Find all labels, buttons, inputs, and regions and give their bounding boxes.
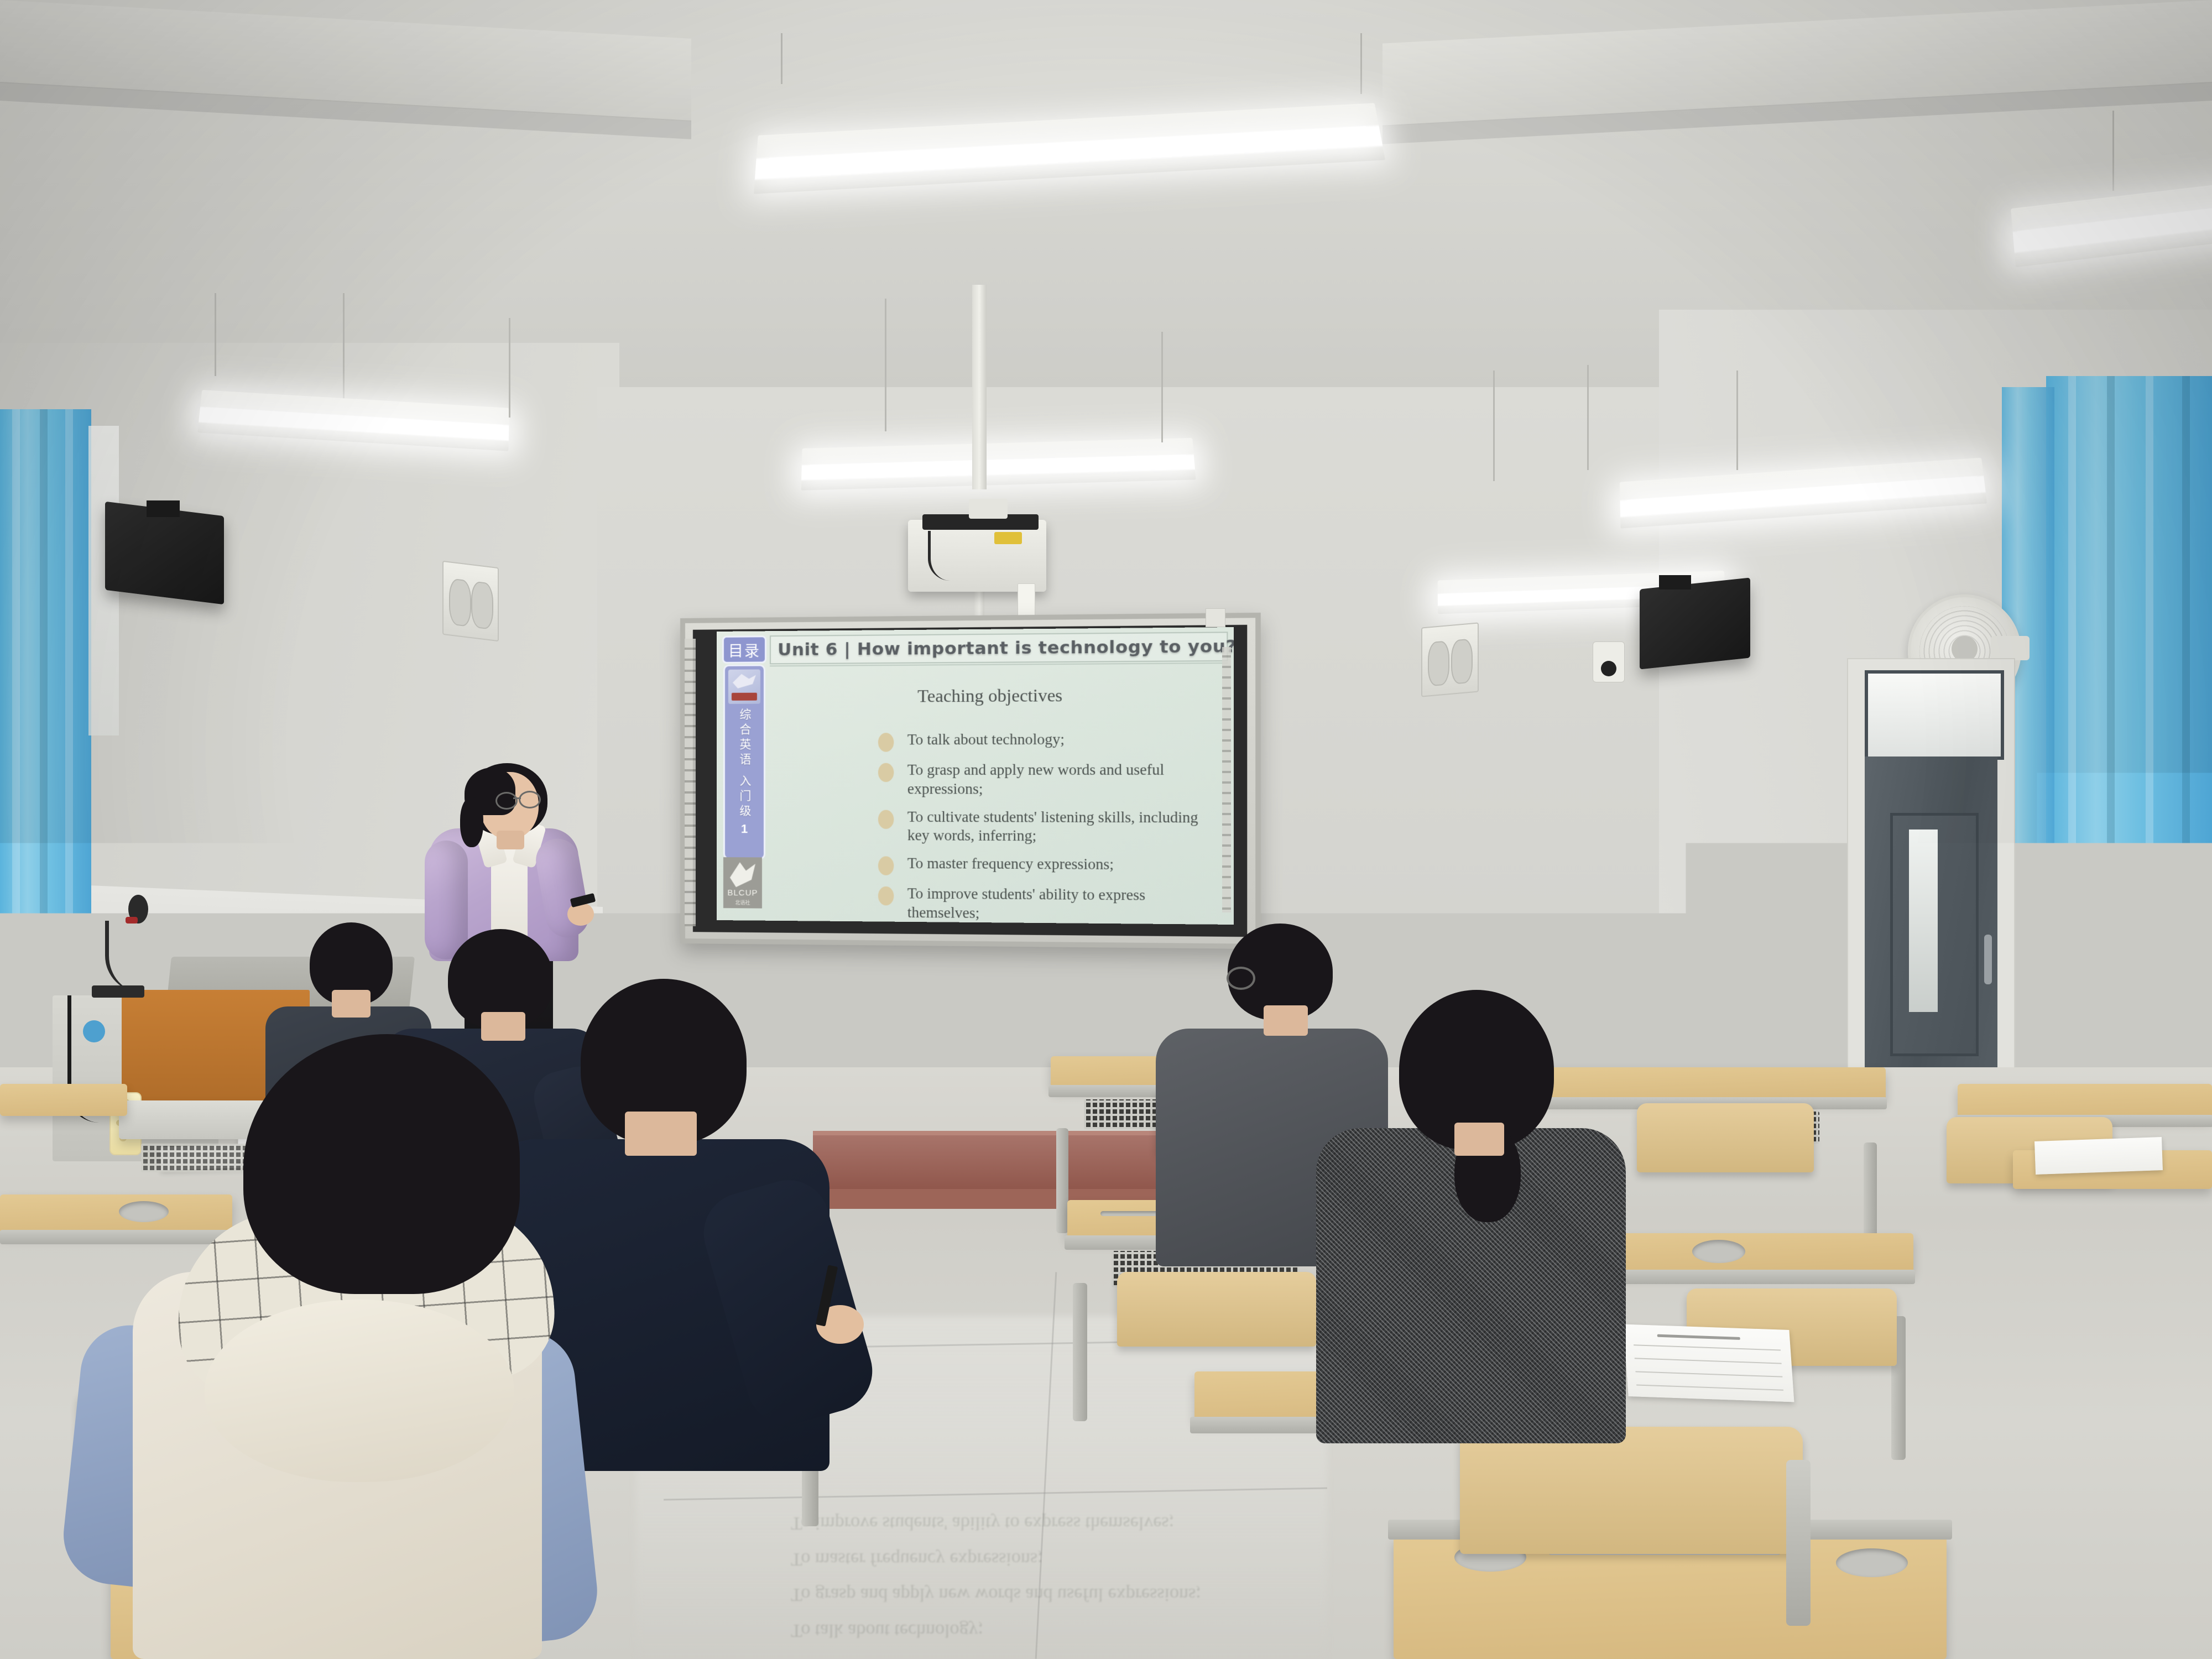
slide-sidebar-level-number: 1 — [741, 822, 748, 836]
slide-title: Unit 6 | How important is technology to … — [778, 636, 1234, 660]
bullet-dot-icon — [878, 763, 894, 782]
door-transom-window — [1865, 670, 2004, 760]
ceiling-hook-wire — [1587, 365, 1589, 470]
publisher-logo-block: BLCUP 北语社 — [723, 857, 762, 909]
whiteboard-marker-tray-left — [685, 639, 696, 926]
teacher-neck — [497, 831, 524, 849]
light-suspension-wire — [343, 293, 345, 415]
student-neck — [332, 990, 371, 1018]
teacher-glasses-bridge — [513, 797, 521, 799]
whiteboard-marker-tray-right — [1222, 647, 1231, 912]
publisher-sub: 北语社 — [735, 899, 750, 906]
projector-label — [994, 532, 1022, 544]
speaker-bracket-left — [147, 500, 180, 517]
teacher-glasses-right — [519, 791, 541, 808]
curtain-left — [0, 409, 91, 995]
projector-tag — [1018, 583, 1035, 619]
door-handle[interactable] — [1984, 935, 1992, 984]
list-item: To improve students' ability to express … — [878, 884, 1222, 925]
student-neck — [625, 1112, 697, 1156]
slide-subtitle: Teaching objectives — [917, 685, 1062, 707]
slide-sidebar-vertical-text: 综合英语 入门级 — [736, 708, 753, 820]
bullet-dot-icon — [878, 810, 894, 828]
bullet-text: To cultivate students' listening skills,… — [907, 807, 1206, 846]
bullet-text: To master frequency expressions; — [907, 854, 1114, 874]
air-conditioner-right — [1421, 622, 1479, 697]
desk-cup-holder — [1836, 1548, 1908, 1577]
student-neck — [1454, 1123, 1504, 1156]
slide-toc-button[interactable]: 目录 — [722, 635, 766, 664]
student-glasses — [1227, 967, 1255, 990]
teacher-glasses-left — [495, 792, 518, 810]
air-conditioner-left — [442, 561, 499, 642]
bullet-dot-icon — [878, 886, 894, 906]
ceiling-hook-wire — [215, 293, 216, 376]
bullet-text: To grasp and apply new words and useful … — [907, 760, 1222, 799]
slide-sidebar: 综合英语 入门级 1 — [723, 664, 765, 859]
desk-leg — [1073, 1283, 1087, 1421]
light-suspension-wire — [2112, 111, 2114, 191]
teacher-ponytail — [460, 797, 483, 847]
projector-bracket — [969, 499, 1008, 519]
slide-title-box: Unit 6 | How important is technology to … — [770, 632, 1228, 664]
student-front-right — [1753, 1040, 2118, 1537]
student-front-left — [72, 1034, 581, 1659]
reflected-bullet: To master frequency expressions; — [791, 1541, 1288, 1577]
light-suspension-wire — [781, 33, 782, 84]
fan-mount — [1991, 636, 2030, 660]
projector-mount-pole — [972, 285, 987, 489]
desk-cup-holder — [1692, 1240, 1745, 1263]
microphone-ring — [126, 917, 138, 924]
slide-toc-label: 目录 — [728, 639, 760, 660]
presentation-slide[interactable]: 目录 综合英语 入门级 1 BLCUP 北语社 Unit 6 | How imp… — [717, 627, 1234, 925]
chair-mid-left[interactable] — [1117, 1272, 1316, 1347]
bullet-text: To talk about technology; — [907, 730, 1065, 749]
ceiling-hook-wire — [1736, 371, 1738, 470]
floor-slide-reflection: To talk about technology; To grasp and a… — [791, 1416, 1288, 1648]
reflected-bullet: To talk about technology; — [791, 1612, 1288, 1648]
bullet-dot-icon — [878, 733, 894, 752]
bullet-text: To improve students' ability to express … — [907, 884, 1222, 925]
security-camera-icon — [1593, 641, 1625, 682]
list-item: To grasp and apply new words and useful … — [878, 760, 1222, 799]
bullet-dot-icon — [878, 856, 894, 875]
ceiling-hook-wire — [885, 332, 886, 431]
projector-cable — [928, 531, 969, 581]
speaker-bracket-right — [1659, 575, 1691, 589]
student-ponytail — [1953, 1157, 2053, 1251]
publisher-bird-icon — [728, 670, 760, 704]
student-neck — [1886, 1160, 1941, 1199]
student-neck — [1264, 1005, 1308, 1036]
curtain-right — [2046, 376, 2212, 1106]
light-suspension-wire — [509, 318, 510, 418]
student-hair — [243, 1034, 520, 1294]
list-item: To cultivate students' listening skills,… — [878, 807, 1222, 847]
student-hood-inner — [205, 1300, 514, 1482]
desk-leg — [1056, 1128, 1068, 1233]
student-mid-right — [1316, 990, 1626, 1443]
blcup-bird-icon — [729, 860, 757, 887]
reflected-bullet: To improve students' ability to express … — [791, 1505, 1288, 1541]
wall-switch[interactable] — [1206, 608, 1225, 627]
wall-speaker-right — [1640, 577, 1750, 669]
light-suspension-wire — [1493, 371, 1495, 481]
list-item: To master frequency expressions; — [878, 854, 1222, 877]
list-item: To talk about technology; — [878, 730, 1222, 752]
classroom-photo: 目录 综合英语 入门级 1 BLCUP 北语社 Unit 6 | How imp… — [0, 0, 2212, 1659]
ceiling-hook-wire — [1161, 332, 1163, 442]
light-suspension-wire — [1360, 33, 1362, 94]
reflected-bullet: To grasp and apply new words and useful … — [791, 1577, 1288, 1613]
student-glasses — [1850, 1098, 1884, 1125]
door-vision-panel — [1909, 830, 1938, 1012]
microphone-base — [92, 985, 144, 998]
publisher-abbr: BLCUP — [727, 888, 758, 898]
slide-bullet-list: To talk about technology; To grasp and a… — [878, 730, 1222, 925]
